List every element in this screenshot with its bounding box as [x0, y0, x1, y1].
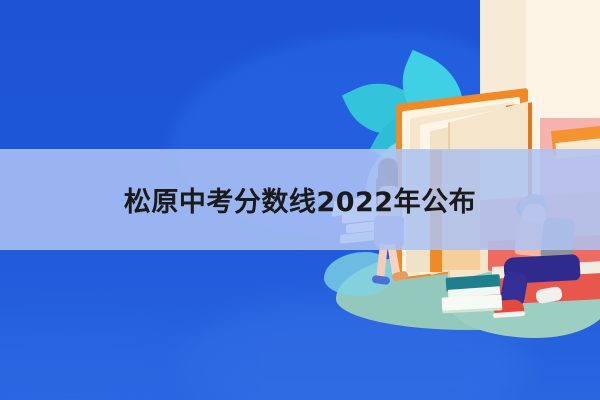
article-cover-banner: 松原中考分数线2022年公布 — [0, 0, 600, 400]
banner-title: 松原中考分数线2022年公布 — [0, 149, 600, 250]
white-book — [442, 294, 503, 313]
